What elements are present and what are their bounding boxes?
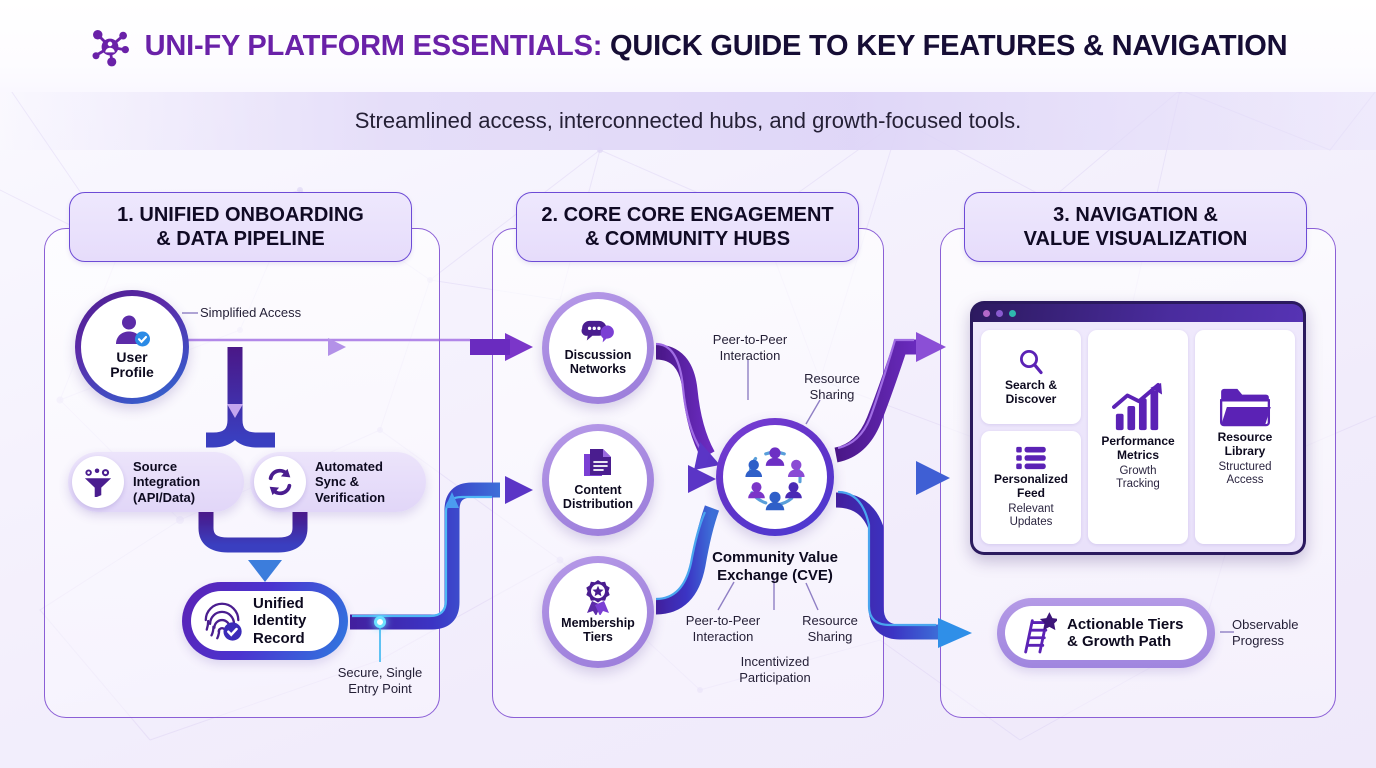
annotation-observable-line1: Observable (1232, 617, 1324, 633)
card-library-sub2: Access (1218, 474, 1271, 487)
card-metrics-line1: Performance (1101, 435, 1174, 448)
node-user-profile-line2: Profile (110, 365, 154, 380)
window-dot-1 (983, 310, 990, 317)
card-metrics-line2: Metrics (1101, 449, 1174, 462)
cve-person-bottomright (785, 482, 802, 498)
annotation-simplified-access: Simplified Access (200, 305, 301, 321)
award-ribbon-icon (582, 579, 614, 615)
node-community-value-exchange[interactable] (716, 418, 834, 536)
annotation-resource-bottom-line2: Sharing (788, 629, 872, 645)
content-distribution-line1: Content (563, 484, 633, 498)
folder-icon (1219, 386, 1271, 428)
annotation-incentivized-line1: Incentivized (722, 654, 828, 670)
column-title-1: 1. UNIFIED ONBOARDING & DATA PIPELINE (69, 192, 412, 262)
user-verified-icon (112, 314, 152, 348)
annotation-p2p-bottom-line2: Interaction (672, 629, 774, 645)
annotation-p2p-top-line2: Interaction (700, 348, 800, 364)
source-integration-line1: Source (133, 459, 200, 474)
node-unified-identity-record[interactable]: Unified Identity Record (182, 582, 348, 660)
content-distribution-line2: Distribution (563, 498, 633, 512)
card-feed-sub1: Relevant (1008, 503, 1053, 516)
title-rest: QUICK GUIDE TO KEY FEATURES & NAVIGATION (610, 30, 1287, 62)
annotation-p2p-bottom-line1: Peer-to-Peer (672, 613, 774, 629)
node-user-profile-line1: User (110, 350, 154, 365)
node-actionable-tiers[interactable]: Actionable Tiers & Growth Path (997, 598, 1215, 668)
column-title-3: 3. NAVIGATION & VALUE VISUALIZATION (964, 192, 1307, 262)
column-title-1-line2: & DATA PIPELINE (156, 227, 325, 251)
annotation-observable-progress: Observable Progress (1232, 617, 1324, 648)
page-header: UNI-FY PLATFORM ESSENTIALS: QUICK GUIDE … (0, 0, 1376, 92)
card-library-sub1: Structured (1218, 461, 1271, 474)
dashboard-column-mid: Performance Metrics Growth Tracking (1088, 330, 1188, 544)
cve-person-topleft (745, 460, 762, 477)
unified-identity-line2: Identity (253, 612, 306, 629)
dashboard-column-left: Search & Discover Personalized (981, 330, 1081, 544)
membership-tiers-line1: Membership (561, 617, 635, 631)
magnifier-icon (1017, 348, 1045, 376)
node-content-distribution[interactable]: Content Distribution (542, 424, 654, 536)
card-search-line1: Search & (1005, 379, 1057, 392)
annotation-resource-bottom-line1: Resource (788, 613, 872, 629)
window-dot-2 (996, 310, 1003, 317)
cve-title-line2: Exchange (CVE) (682, 567, 868, 585)
actionable-tiers-line1: Actionable Tiers (1067, 616, 1183, 633)
actionable-tiers-line2: & Growth Path (1067, 633, 1183, 650)
automated-sync-line1: Automated (315, 459, 385, 474)
unified-identity-line3: Record (253, 630, 306, 647)
annotation-observable-line2: Progress (1232, 633, 1324, 649)
growth-chart-icon (1110, 382, 1166, 432)
column-title-3-line1: 3. NAVIGATION & (1053, 203, 1218, 227)
card-library-line2: Library (1218, 445, 1273, 458)
column-title-1-line1: 1. UNIFIED ONBOARDING (117, 203, 364, 227)
cve-title: Community Value Exchange (CVE) (682, 549, 868, 584)
card-library-line1: Resource (1218, 431, 1273, 444)
annotation-p2p-top: Peer-to-Peer Interaction (700, 332, 800, 363)
window-dot-3 (1009, 310, 1016, 317)
automated-sync-icon-wrap (254, 456, 306, 508)
dashboard-window[interactable]: Search & Discover Personalized (970, 301, 1306, 555)
node-source-integration[interactable]: Source Integration (API/Data) (68, 452, 244, 512)
annotation-secure-entry: Secure, Single Entry Point (330, 665, 430, 696)
cve-person-top (766, 447, 785, 466)
unified-identity-line1: Unified (253, 595, 306, 612)
page-title: UNI-FY PLATFORM ESSENTIALS: QUICK GUIDE … (145, 30, 1288, 63)
card-feed-line1: Personalized (994, 473, 1068, 486)
title-accent: UNI-FY PLATFORM ESSENTIALS: (145, 30, 603, 62)
source-integration-line2: Integration (133, 474, 200, 489)
node-automated-sync[interactable]: Automated Sync & Verification (250, 452, 426, 512)
column-title-2: 2. CORE CORE ENGAGEMENT & COMMUNITY HUBS (516, 192, 859, 262)
annotation-resource-top-line2: Sharing (790, 387, 874, 403)
annotation-resource-top-line1: Resource (790, 371, 874, 387)
cve-person-bottomleft (748, 482, 765, 498)
dashboard-titlebar (973, 304, 1303, 322)
annotation-resource-top: Resource Sharing (790, 371, 874, 402)
annotation-resource-bottom: Resource Sharing (788, 613, 872, 644)
membership-tiers-line2: Tiers (561, 631, 635, 645)
funnel-gears-icon (82, 467, 114, 497)
dashboard-card-search[interactable]: Search & Discover (981, 330, 1081, 424)
annotation-incentivized: Incentivized Participation (722, 654, 828, 685)
chat-bubbles-icon (580, 319, 616, 347)
card-feed-line2: Feed (994, 487, 1068, 500)
column-title-3-line2: VALUE VISUALIZATION (1024, 227, 1248, 251)
column-title-2-line1: 2. CORE CORE ENGAGEMENT (541, 203, 833, 227)
feed-list-icon (1016, 446, 1046, 470)
network-hub-icon (89, 26, 131, 68)
cve-person-topright (788, 460, 805, 477)
dashboard-card-feed[interactable]: Personalized Feed Relevant Updates (981, 431, 1081, 544)
card-feed-sub2: Updates (1008, 516, 1053, 529)
source-integration-line3: (API/Data) (133, 490, 200, 505)
automated-sync-line2: Sync & (315, 474, 385, 489)
dashboard-column-right: Resource Library Structured Access (1195, 330, 1295, 544)
node-user-profile[interactable]: User Profile (75, 290, 189, 404)
node-discussion-networks[interactable]: Discussion Networks (542, 292, 654, 404)
column-title-2-line2: & COMMUNITY HUBS (585, 227, 790, 251)
annotation-p2p-bottom: Peer-to-Peer Interaction (672, 613, 774, 644)
annotation-incentivized-line2: Participation (722, 670, 828, 686)
dashboard-body: Search & Discover Personalized (973, 322, 1303, 552)
card-metrics-sub2: Tracking (1116, 478, 1160, 491)
cve-title-line1: Community Value (682, 549, 868, 567)
discussion-networks-line1: Discussion (565, 349, 632, 363)
page-subtitle: Streamlined access, interconnected hubs,… (0, 92, 1376, 150)
annotation-secure-entry-line2: Entry Point (330, 681, 430, 697)
discussion-networks-line2: Networks (565, 363, 632, 377)
source-integration-icon-wrap (72, 456, 124, 508)
ladder-star-icon (1019, 612, 1057, 654)
fingerprint-check-icon (201, 599, 245, 643)
card-metrics-sub1: Growth (1116, 465, 1160, 478)
annotation-p2p-top-line1: Peer-to-Peer (700, 332, 800, 348)
annotation-secure-entry-line1: Secure, Single (330, 665, 430, 681)
dashboard-card-library[interactable]: Resource Library Structured Access (1195, 330, 1295, 544)
people-circle-icon (738, 440, 812, 514)
infographic-canvas: UNI-FY PLATFORM ESSENTIALS: QUICK GUIDE … (0, 0, 1376, 768)
refresh-sync-icon (265, 467, 295, 497)
node-membership-tiers[interactable]: Membership Tiers (542, 556, 654, 668)
cve-person-bottom (766, 492, 785, 511)
card-search-line2: Discover (1005, 393, 1057, 406)
documents-icon (582, 448, 614, 482)
dashboard-card-metrics[interactable]: Performance Metrics Growth Tracking (1088, 330, 1188, 544)
automated-sync-line3: Verification (315, 490, 385, 505)
